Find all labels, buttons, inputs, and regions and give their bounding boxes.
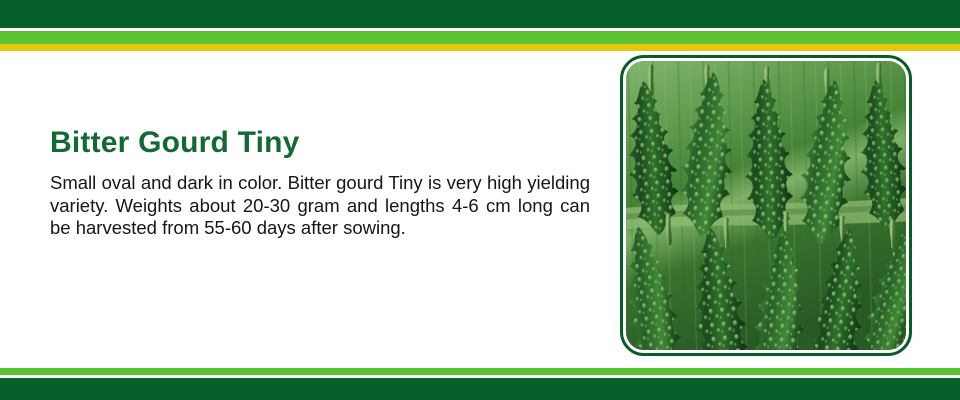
bitter-gourd-photo [626,61,906,350]
product-description: Small oval and dark in color. Bitter gou… [50,172,590,240]
top-dark-green-band [0,0,960,28]
bitter-gourd-illustration [626,61,906,350]
product-banner: Bitter Gourd Tiny Small oval and dark in… [0,0,960,400]
photo-frame [620,55,912,356]
bottom-bright-green-band [0,368,960,375]
top-yellow-band [0,44,960,51]
bottom-dark-green-band [0,378,960,400]
page-title: Bitter Gourd Tiny [50,126,595,160]
text-column: Bitter Gourd Tiny Small oval and dark in… [50,126,595,240]
top-bright-green-band [0,31,960,44]
